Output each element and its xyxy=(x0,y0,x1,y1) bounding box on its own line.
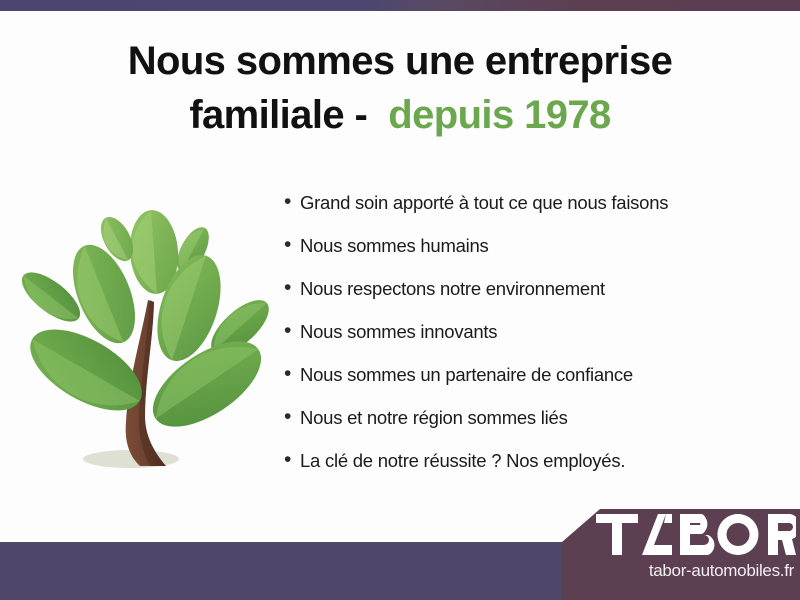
bullet-marker-icon: • xyxy=(284,233,300,257)
list-item-label: La clé de notre réussite ? Nos employés. xyxy=(300,448,784,474)
headline-line-1: Nous sommes une entreprise xyxy=(40,34,760,88)
list-item: • Nous et notre région sommes liés xyxy=(284,405,784,448)
logo-wordmark-tabor xyxy=(596,511,796,557)
logo-url-label[interactable]: tabor-automobiles.fr xyxy=(596,561,796,581)
bullet-marker-icon: • xyxy=(284,190,300,214)
list-item-label: Nous sommes un partenaire de confiance xyxy=(300,362,784,388)
list-item-label: Grand soin apporté à tout ce que nous fa… xyxy=(300,190,784,216)
brand-logo[interactable]: tabor-automobiles.fr xyxy=(596,509,800,600)
bullet-marker-icon: • xyxy=(284,405,300,429)
list-item: • Grand soin apporté à tout ce que nous … xyxy=(284,190,784,233)
values-bullet-list: • Grand soin apporté à tout ce que nous … xyxy=(284,190,784,491)
page-title: Nous sommes une entreprise familiale - d… xyxy=(40,34,760,143)
headline-line-2: familiale - depuis 1978 xyxy=(40,88,760,142)
list-item: • Nous sommes humains xyxy=(284,233,784,276)
list-item: • Nous respectons notre environnement xyxy=(284,276,784,319)
slide-canvas: Nous sommes une entreprise familiale - d… xyxy=(0,0,800,600)
list-item: • La clé de notre réussite ? Nos employé… xyxy=(284,448,784,491)
headline-dash: - xyxy=(355,93,368,137)
bullet-marker-icon: • xyxy=(284,362,300,386)
bullet-marker-icon: • xyxy=(284,276,300,300)
list-item-label: Nous sommes humains xyxy=(300,233,784,259)
list-item: • Nous sommes innovants xyxy=(284,319,784,362)
list-item-label: Nous respectons notre environnement xyxy=(300,276,784,302)
list-item-label: Nous sommes innovants xyxy=(300,319,784,345)
list-item: • Nous sommes un partenaire de confiance xyxy=(284,362,784,405)
top-accent-bar xyxy=(0,0,800,11)
bullet-marker-icon: • xyxy=(284,448,300,472)
tree-illustration xyxy=(14,182,280,488)
list-item-label: Nous et notre région sommes liés xyxy=(300,405,784,431)
headline-highlight: depuis 1978 xyxy=(388,93,610,137)
bullet-marker-icon: • xyxy=(284,319,300,343)
headline-line-2-plain: familiale xyxy=(189,93,344,137)
